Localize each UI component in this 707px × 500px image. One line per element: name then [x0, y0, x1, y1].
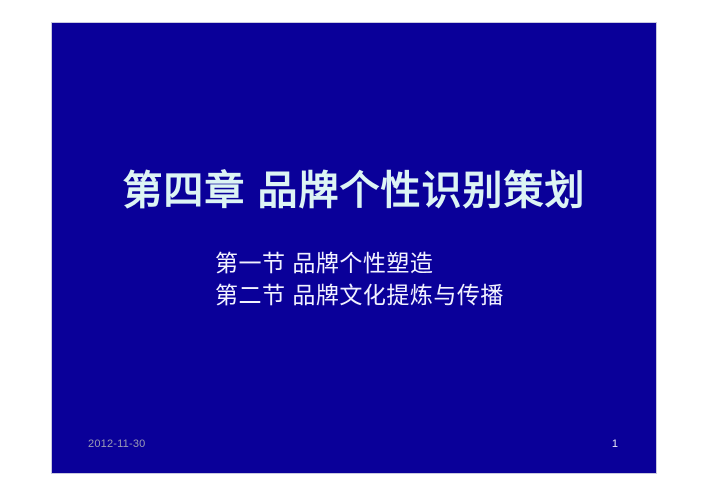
- slide-title: 第四章 品牌个性识别策划: [52, 166, 656, 216]
- slide-page-number: 1: [612, 438, 618, 451]
- slide-footer-date: 2012-11-30: [88, 438, 145, 451]
- slide-subtitle-line-2: 第二节 品牌文化提炼与传播: [215, 279, 635, 311]
- presentation-slide: 第四章 品牌个性识别策划 第一节 品牌个性塑造 第二节 品牌文化提炼与传播 20…: [51, 22, 657, 474]
- slide-page: 第四章 品牌个性识别策划 第一节 品牌个性塑造 第二节 品牌文化提炼与传播 20…: [0, 0, 707, 500]
- slide-subtitle-line-1: 第一节 品牌个性塑造: [215, 247, 635, 279]
- slide-subtitle-list: 第一节 品牌个性塑造 第二节 品牌文化提炼与传播: [215, 247, 635, 311]
